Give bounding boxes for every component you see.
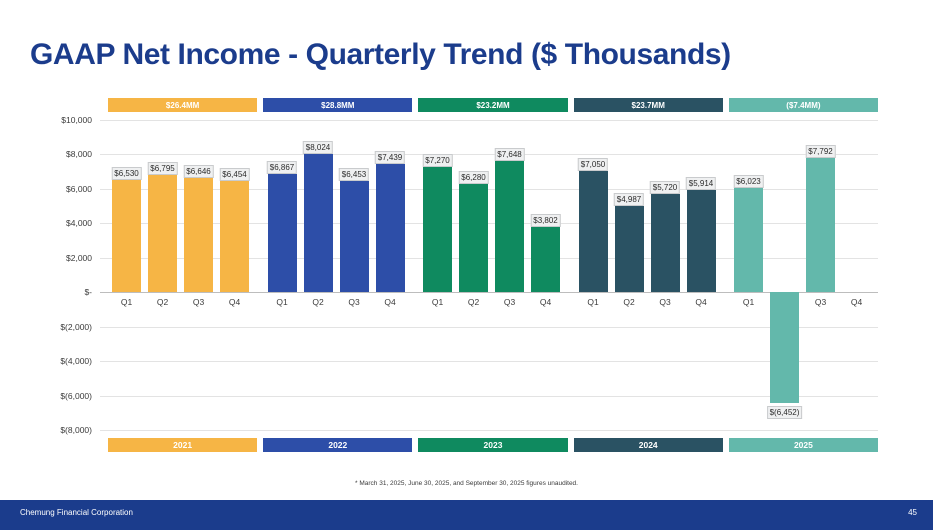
- bar-2024-Q3: [651, 194, 680, 293]
- bar-2022-Q4: [376, 164, 405, 292]
- bar-2023-Q1: [423, 167, 452, 292]
- x-axis-tick-label: Q2: [157, 297, 168, 307]
- year-label-2021: 2021: [108, 438, 257, 452]
- x-axis-tick-label: Q4: [384, 297, 395, 307]
- bar-value-label: $6,530: [111, 167, 141, 180]
- bar-2025-Q1: [734, 188, 763, 292]
- footer-bar: Chemung Financial Corporation 45: [0, 500, 933, 530]
- year-total-2021: $26.4MM: [108, 98, 257, 112]
- bar-value-label: $7,792: [805, 145, 835, 158]
- bar-2021-Q3: [184, 178, 213, 292]
- bar-value-label: $6,280: [458, 171, 488, 184]
- x-axis-tick-label: Q1: [432, 297, 443, 307]
- y-axis-tick-label: $8,000: [36, 149, 92, 159]
- bar-value-label: $6,795: [147, 162, 177, 175]
- x-axis-tick-label: Q4: [851, 297, 862, 307]
- bar-2023-Q4: [531, 227, 560, 292]
- x-axis-tick-label: Q3: [348, 297, 359, 307]
- bar-2023-Q2: [459, 184, 488, 292]
- y-axis-tick-label: $-: [36, 287, 92, 297]
- x-axis-tick-label: Q4: [695, 297, 706, 307]
- x-axis-tick-label: Q3: [815, 297, 826, 307]
- year-label-2023: 2023: [418, 438, 567, 452]
- x-axis-tick-label: Q1: [121, 297, 132, 307]
- x-axis-tick-label: Q3: [659, 297, 670, 307]
- bar-value-label: $6,453: [339, 168, 369, 181]
- bar-value-label: $7,270: [422, 154, 452, 167]
- bar-value-label: $6,454: [219, 168, 249, 181]
- bar-chart-plot: Q1$6,530Q2$6,795Q3$6,646Q4$6,454Q1$6,867…: [100, 120, 878, 430]
- bar-value-label: $6,646: [183, 165, 213, 178]
- x-axis-tick-label: Q1: [587, 297, 598, 307]
- page-title: GAAP Net Income - Quarterly Trend ($ Tho…: [30, 38, 731, 72]
- bar-2024-Q4: [687, 190, 716, 292]
- y-axis-tick-label: $(8,000): [36, 425, 92, 435]
- bar-value-label: $5,914: [686, 177, 716, 190]
- year-label-2025: 2025: [729, 438, 878, 452]
- bar-value-label: $3,802: [530, 214, 560, 227]
- bar-2022-Q2: [304, 154, 333, 292]
- bar-2025-Q3: [806, 158, 835, 292]
- bar-value-label: $(6,452): [767, 406, 803, 419]
- x-axis-tick-label: Q4: [540, 297, 551, 307]
- bar-value-label: $7,439: [375, 151, 405, 164]
- bar-2021-Q4: [220, 181, 249, 292]
- bar-value-label: $4,987: [614, 193, 644, 206]
- y-axis-tick-label: $(4,000): [36, 356, 92, 366]
- y-axis-tick-label: $(6,000): [36, 391, 92, 401]
- x-axis-tick-label: Q3: [193, 297, 204, 307]
- year-label-2022: 2022: [263, 438, 412, 452]
- year-total-2023: $23.2MM: [418, 98, 567, 112]
- x-axis-tick-label: Q1: [276, 297, 287, 307]
- year-total-header-row: $26.4MM$28.8MM$23.2MM$23.7MM($7.4MM): [108, 98, 878, 112]
- year-total-2024: $23.7MM: [574, 98, 723, 112]
- year-total-2025: ($7.4MM): [729, 98, 878, 112]
- year-total-2022: $28.8MM: [263, 98, 412, 112]
- bar-2022-Q3: [340, 181, 369, 292]
- bar-2025-Q2: [770, 292, 799, 403]
- y-axis-tick-label: $10,000: [36, 115, 92, 125]
- bar-2022-Q1: [268, 174, 297, 292]
- bar-value-label: $8,024: [303, 141, 333, 154]
- footer-page-number: 45: [908, 508, 917, 517]
- bar-2024-Q2: [615, 206, 644, 292]
- x-axis-tick-label: Q4: [229, 297, 240, 307]
- year-legend-row: 20212022202320242025: [108, 438, 878, 452]
- y-axis-tick-label: $2,000: [36, 253, 92, 263]
- bar-value-label: $5,720: [650, 181, 680, 194]
- x-axis-tick-label: Q3: [504, 297, 515, 307]
- year-label-2024: 2024: [574, 438, 723, 452]
- x-axis-tick-label: Q1: [743, 297, 754, 307]
- bar-2023-Q3: [495, 161, 524, 293]
- x-axis-tick-label: Q2: [623, 297, 634, 307]
- gridline: [100, 430, 878, 431]
- x-axis-tick-label: Q2: [312, 297, 323, 307]
- y-axis-tick-label: $4,000: [36, 218, 92, 228]
- bar-value-label: $7,648: [494, 148, 524, 161]
- bar-2024-Q1: [579, 171, 608, 292]
- y-axis-labels: $10,000$8,000$6,000$4,000$2,000$-$(2,000…: [30, 120, 92, 430]
- chart-footnote: * March 31, 2025, June 30, 2025, and Sep…: [0, 480, 933, 487]
- bar-2021-Q2: [148, 175, 177, 292]
- bar-value-label: $6,023: [733, 175, 763, 188]
- x-axis-tick-label: Q2: [468, 297, 479, 307]
- y-axis-tick-label: $6,000: [36, 184, 92, 194]
- bar-value-label: $7,050: [578, 158, 608, 171]
- bar-2021-Q1: [112, 180, 141, 292]
- y-axis-tick-label: $(2,000): [36, 322, 92, 332]
- bar-value-label: $6,867: [267, 161, 297, 174]
- footer-company-name: Chemung Financial Corporation: [20, 508, 133, 517]
